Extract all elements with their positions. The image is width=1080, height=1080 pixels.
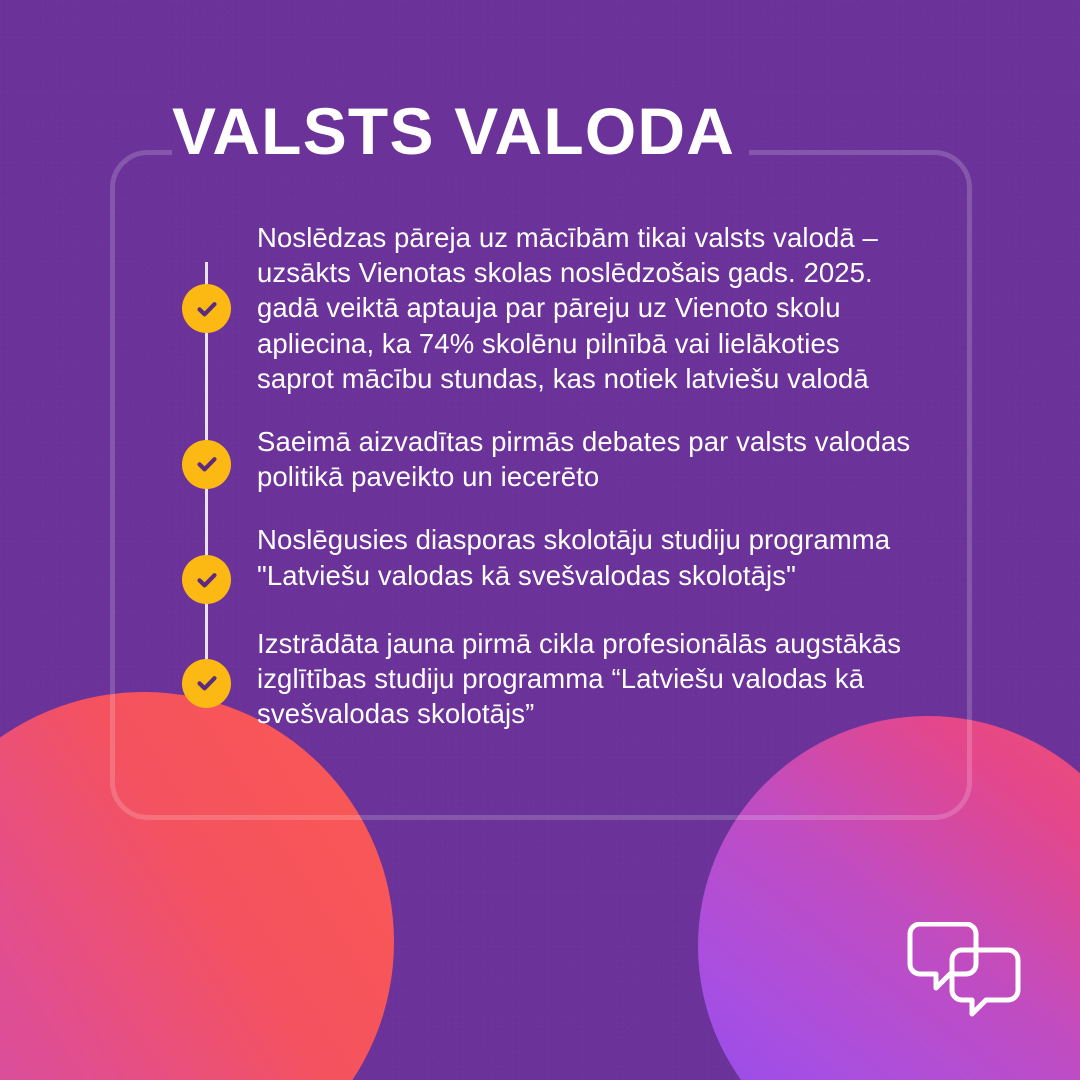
list-item-text: Noslēgusies diasporas skolotāju studiju … [231, 522, 922, 592]
check-icon [182, 440, 231, 489]
timeline-list: Noslēdzas pāreja uz mācībām tikai valsts… [182, 220, 922, 731]
poster-canvas: VALSTS VALODA Noslēdzas pāreja uz mācībā… [0, 0, 1080, 1080]
check-icon [182, 659, 231, 708]
list-item-text: Izstrādāta jauna pirmā cikla profesionāl… [231, 626, 922, 732]
list-item: Noslēdzas pāreja uz mācībām tikai valsts… [182, 220, 922, 396]
check-icon [182, 284, 231, 333]
list-item: Noslēgusies diasporas skolotāju studiju … [182, 522, 922, 592]
list-item-text: Noslēdzas pāreja uz mācībām tikai valsts… [231, 220, 922, 396]
check-icon [182, 555, 231, 604]
list-item-text: Saeimā aizvadītas pirmās debates par val… [231, 424, 922, 494]
list-item: Izstrādāta jauna pirmā cikla profesionāl… [182, 626, 922, 732]
page-title: VALSTS VALODA [172, 92, 749, 170]
chat-bubbles-icon [902, 922, 1022, 1022]
list-item: Saeimā aizvadītas pirmās debates par val… [182, 424, 922, 494]
